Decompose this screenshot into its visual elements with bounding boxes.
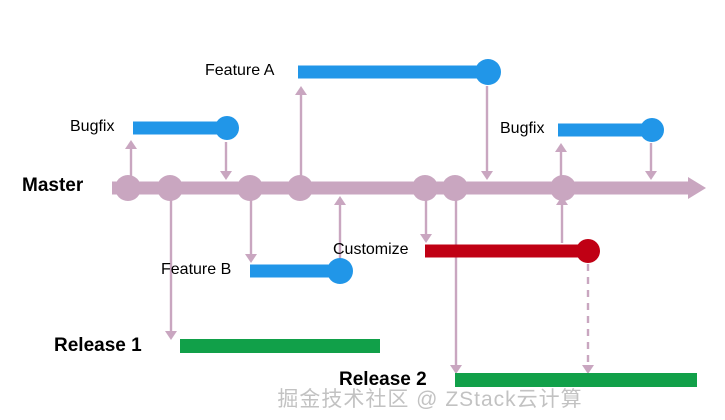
branch-tip-feature-a[interactable] (475, 59, 501, 85)
conn-commit3-to-feature-b-arrowhead (245, 254, 257, 263)
branch-tip-bugfix-left[interactable] (215, 116, 239, 140)
conn-commit7-to-bugfix-right-arrowhead (555, 143, 567, 152)
diagram-canvas (0, 0, 725, 420)
conn-bugfix-right-to-master-arrowhead (645, 171, 657, 180)
branch-label-customize: Customize (333, 241, 409, 259)
watermark-text: 掘金技术社区 @ ZStack云计算 (277, 383, 582, 413)
master-node-commit-5[interactable] (412, 175, 438, 201)
branch-tip-bugfix-right[interactable] (640, 118, 664, 142)
conn-commit1-to-bugfix-left-arrowhead (125, 140, 137, 149)
conn-feature-b-to-commit4-arrowhead (334, 196, 346, 205)
branch-tip-feature-b[interactable] (327, 258, 353, 284)
branch-label-feature-b: Feature B (161, 261, 231, 279)
branch-tip-customize[interactable] (576, 239, 600, 263)
git-branching-diagram: MasterBugfixFeature ABugfixFeature BCust… (0, 0, 725, 420)
release-label-release-1: Release 1 (54, 335, 142, 357)
master-node-commit-7[interactable] (550, 175, 576, 201)
master-node-commit-6[interactable] (442, 175, 468, 201)
master-node-commit-3[interactable] (237, 175, 263, 201)
master-label: Master (22, 175, 83, 197)
branch-label-feature-a: Feature A (205, 62, 274, 80)
master-node-commit-2[interactable] (157, 175, 183, 201)
master-arrowhead (688, 177, 706, 199)
conn-commit3-to-feature-a-arrowhead (295, 86, 307, 95)
conn-bugfix-left-to-commit2-arrowhead (220, 171, 232, 180)
master-node-commit-4[interactable] (287, 175, 313, 201)
conn-customize-to-release-2-arrowhead (582, 365, 594, 374)
branch-label-bugfix-left: Bugfix (70, 118, 114, 136)
branch-label-bugfix-right: Bugfix (500, 120, 544, 138)
master-node-commit-1[interactable] (115, 175, 141, 201)
conn-commit6-to-release-2-arrowhead (450, 365, 462, 374)
conn-feature-a-to-commit5-arrowhead (481, 171, 493, 180)
conn-commit5-to-customize-arrowhead (420, 234, 432, 243)
conn-commit2-to-release-1-arrowhead (165, 331, 177, 340)
